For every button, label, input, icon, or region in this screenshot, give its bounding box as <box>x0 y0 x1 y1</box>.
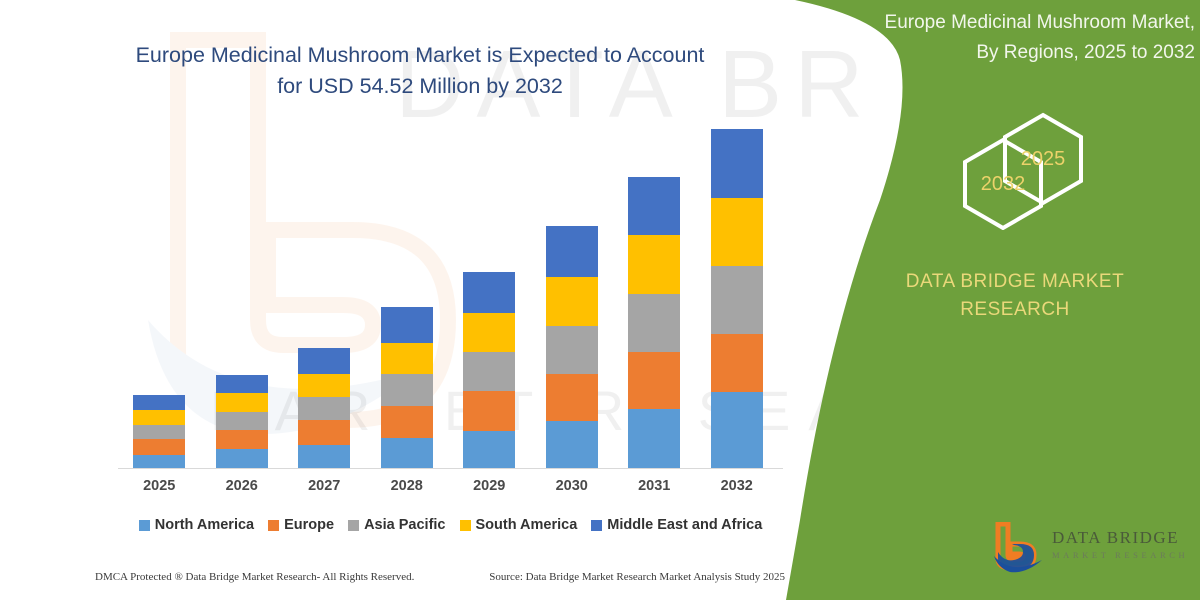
bar-segment <box>711 266 763 334</box>
bar-segment <box>133 455 185 468</box>
bar-segment <box>628 177 680 235</box>
bar-segment <box>133 395 185 409</box>
bar-column <box>381 307 433 468</box>
bar-segment <box>216 375 268 393</box>
x-axis-label: 2025 <box>119 478 199 494</box>
bar-segment <box>546 226 598 277</box>
bar-segment <box>711 129 763 198</box>
legend-swatch-icon <box>591 520 602 531</box>
chart-legend: North AmericaEuropeAsia PacificSouth Ame… <box>118 513 783 537</box>
bar-segment <box>298 420 350 445</box>
legend-item[interactable]: Asia Pacific <box>348 517 445 533</box>
legend-item[interactable]: South America <box>460 517 578 533</box>
legend-label: Europe <box>284 517 334 533</box>
bar-segment <box>298 397 350 420</box>
legend-swatch-icon <box>348 520 359 531</box>
legend-label: Asia Pacific <box>364 517 445 533</box>
chart-panel: DATA BRIDGE MARKET RESEARCH Europe Medic… <box>0 0 860 600</box>
panel-title: Europe Medicinal Mushroom Market, By Reg… <box>840 8 1200 68</box>
bar-segment <box>628 409 680 468</box>
brand-name-line2: RESEARCH <box>960 299 1070 320</box>
chart-title: Europe Medicinal Mushroom Market is Expe… <box>90 40 750 102</box>
hex-label-start-year: 2025 <box>1005 148 1081 171</box>
bar-segment <box>298 445 350 468</box>
legend-label: North America <box>155 517 254 533</box>
bar-segment <box>546 421 598 468</box>
bar-segment <box>381 438 433 468</box>
x-axis-label: 2032 <box>697 478 777 494</box>
bar-segment <box>381 307 433 343</box>
bar-segment <box>216 393 268 413</box>
bar-column <box>463 272 515 468</box>
bar-segment <box>298 374 350 397</box>
x-axis-line <box>118 468 783 469</box>
bar-segment <box>711 392 763 468</box>
x-axis-label: 2029 <box>449 478 529 494</box>
year-hexagons: 2025 2032 <box>948 110 1138 230</box>
panel-title-line2: By Regions, 2025 to 2032 <box>976 42 1195 63</box>
bar-segment <box>216 412 268 430</box>
bar-segment <box>381 406 433 439</box>
bar-segment <box>133 439 185 455</box>
bar-segment <box>463 391 515 431</box>
x-axis-label: 2026 <box>202 478 282 494</box>
bar-segment <box>381 343 433 374</box>
footer: DMCA Protected ® Data Bridge Market Rese… <box>95 567 785 587</box>
hex-label-end-year: 2032 <box>965 173 1041 196</box>
x-axis-label: 2030 <box>532 478 612 494</box>
legend-swatch-icon <box>268 520 279 531</box>
bar-segment <box>628 352 680 409</box>
bar-segment <box>711 198 763 266</box>
chart-title-line1: Europe Medicinal Mushroom Market is Expe… <box>136 43 705 67</box>
brand-name: DATA BRIDGE MARKET RESEARCH <box>830 268 1200 324</box>
bar-segment <box>463 313 515 351</box>
company-logo: DATA BRIDGE MARKET RESEARCH <box>990 518 1200 580</box>
chart-title-line2: for USD 54.52 Million by 2032 <box>277 74 563 98</box>
footer-source: Source: Data Bridge Market Research Mark… <box>489 571 785 583</box>
legend-item[interactable]: North America <box>139 517 254 533</box>
bar-segment <box>628 294 680 352</box>
legend-item[interactable]: Middle East and Africa <box>591 517 762 533</box>
logo-name: DATA BRIDGE <box>1052 528 1179 548</box>
bar-segment <box>381 374 433 406</box>
bar-segment <box>546 374 598 421</box>
legend-swatch-icon <box>139 520 150 531</box>
bar-segment <box>546 277 598 325</box>
data-bridge-mark-icon <box>990 522 1048 578</box>
bar-segment <box>546 326 598 374</box>
x-axis-label: 2028 <box>367 478 447 494</box>
bar-segment <box>628 235 680 293</box>
bar-column <box>628 177 680 468</box>
brand-name-line1: DATA BRIDGE MARKET <box>906 271 1124 292</box>
logo-subtitle: MARKET RESEARCH <box>1052 550 1188 560</box>
footer-copyright: DMCA Protected ® Data Bridge Market Rese… <box>95 571 414 583</box>
bar-column <box>216 375 268 468</box>
x-axis-label: 2031 <box>614 478 694 494</box>
bar-segment <box>133 425 185 439</box>
bar-segment <box>463 272 515 314</box>
bar-column <box>298 348 350 468</box>
brand-panel-content: Europe Medicinal Mushroom Market, By Reg… <box>830 0 1200 600</box>
bar-segment <box>711 334 763 392</box>
stacked-bar-chart <box>118 120 778 468</box>
bar-segment <box>463 352 515 391</box>
bar-segment <box>216 430 268 449</box>
bar-column <box>711 129 763 468</box>
bar-segment <box>298 348 350 374</box>
x-axis-label: 2027 <box>284 478 364 494</box>
bar-segment <box>216 449 268 468</box>
legend-item[interactable]: Europe <box>268 517 334 533</box>
x-axis-labels: 20252026202720282029203020312032 <box>118 478 783 500</box>
bar-segment <box>463 431 515 468</box>
legend-swatch-icon <box>460 520 471 531</box>
bar-column <box>546 226 598 468</box>
legend-label: Middle East and Africa <box>607 517 762 533</box>
bar-segment <box>133 410 185 425</box>
panel-title-line1: Europe Medicinal Mushroom Market, <box>885 12 1195 33</box>
legend-label: South America <box>476 517 578 533</box>
bar-column <box>133 395 185 468</box>
